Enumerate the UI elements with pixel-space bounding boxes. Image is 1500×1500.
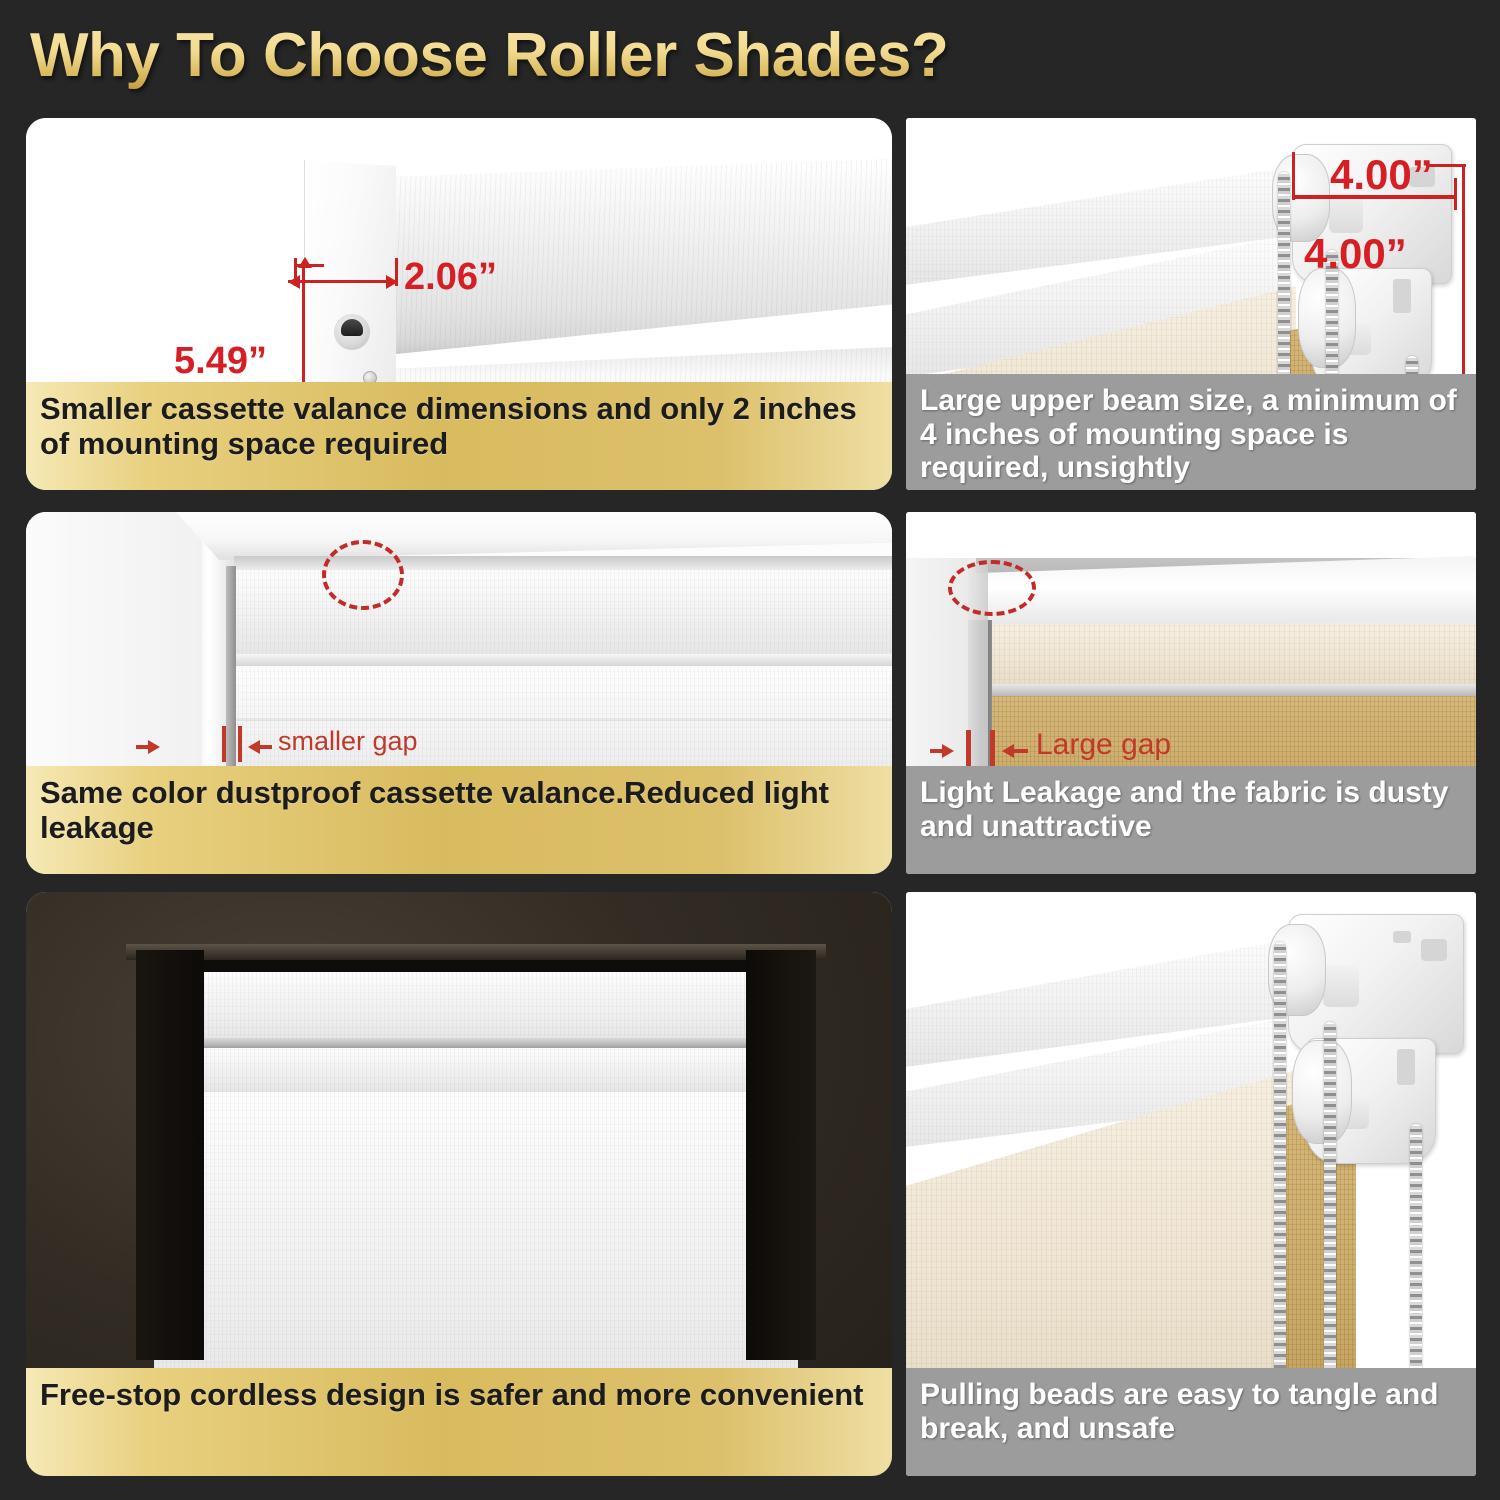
panel-caption: Large upper beam size, a minimum of 4 in… bbox=[906, 374, 1476, 490]
valance-roll bbox=[150, 1048, 802, 1092]
feature-panel-cordless: Free-stop cordless design is safer and m… bbox=[26, 892, 892, 1476]
dimension-line-width bbox=[294, 280, 398, 283]
page-title: Why To Choose Roller Shades? bbox=[30, 20, 948, 91]
dimension-label-width: 4.00” bbox=[1330, 151, 1433, 199]
competitor-panel-bead-chain: Pulling beads are easy to tangle and bre… bbox=[906, 892, 1476, 1476]
feature-panel-cassette-dimensions: 2.06” 5.49” Smaller cassette valance dim… bbox=[26, 118, 892, 490]
gap-label: smaller gap bbox=[278, 726, 418, 757]
shade-fabric bbox=[154, 1092, 798, 1412]
dimension-label-height: 4.00” bbox=[1304, 230, 1407, 278]
bead-chain-right bbox=[1410, 1124, 1422, 1400]
cassette-valance bbox=[148, 972, 804, 1042]
highlight-circle-annotation bbox=[322, 540, 404, 610]
dimension-line-height bbox=[1462, 164, 1465, 384]
panel-caption: Free-stop cordless design is safer and m… bbox=[26, 1368, 892, 1476]
panel-caption: Pulling beads are easy to tangle and bre… bbox=[906, 1368, 1476, 1476]
competitor-panel-large-beam: 4.00” 4.00” Large upper beam size, a min… bbox=[906, 118, 1476, 490]
bead-chain-left bbox=[1274, 942, 1286, 1392]
jamb-left bbox=[136, 950, 204, 1360]
panel-caption: Light Leakage and the fabric is dusty an… bbox=[906, 766, 1476, 874]
jamb-right bbox=[746, 950, 816, 1360]
dimension-label-width: 2.06” bbox=[404, 256, 497, 299]
cream-fabric bbox=[974, 624, 1476, 686]
roller-end-cap-bottom bbox=[1292, 1040, 1352, 1144]
page-header: Why To Choose Roller Shades? bbox=[0, 0, 1500, 110]
gap-label: Large gap bbox=[1036, 728, 1171, 762]
competitor-panel-large-gap: Large gap Light Leakage and the fabric i… bbox=[906, 512, 1476, 874]
bead-chain-mid bbox=[1324, 1022, 1336, 1400]
dimension-label-height: 5.49” bbox=[174, 340, 267, 383]
highlight-circle-annotation bbox=[948, 560, 1036, 616]
panel-caption: Smaller cassette valance dimensions and … bbox=[26, 382, 892, 490]
feature-panel-small-gap: smaller gap Same color dustproof cassett… bbox=[26, 512, 892, 874]
panel-caption: Same color dustproof cassette valance.Re… bbox=[26, 766, 892, 874]
mechanism-housing bbox=[334, 314, 370, 350]
